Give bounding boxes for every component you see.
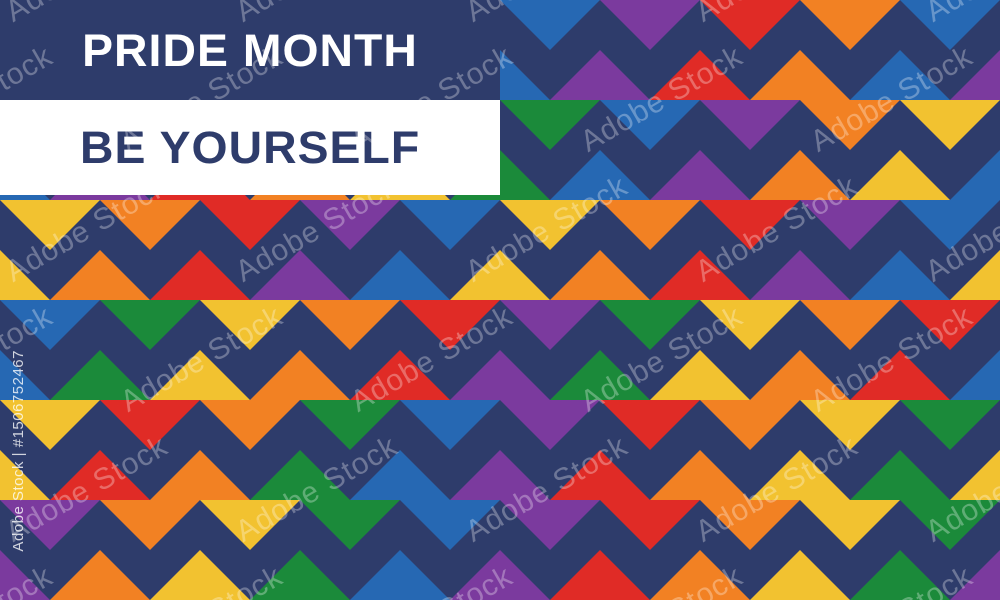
pride-month-banner: PRIDE MONTH BE YOURSELF Adobe StockAdobe… xyxy=(0,0,1000,600)
primary-banner: PRIDE MONTH xyxy=(0,0,500,100)
page-subtitle: BE YOURSELF xyxy=(80,125,420,170)
secondary-banner: BE YOURSELF xyxy=(0,100,500,195)
page-title: PRIDE MONTH xyxy=(82,28,418,73)
